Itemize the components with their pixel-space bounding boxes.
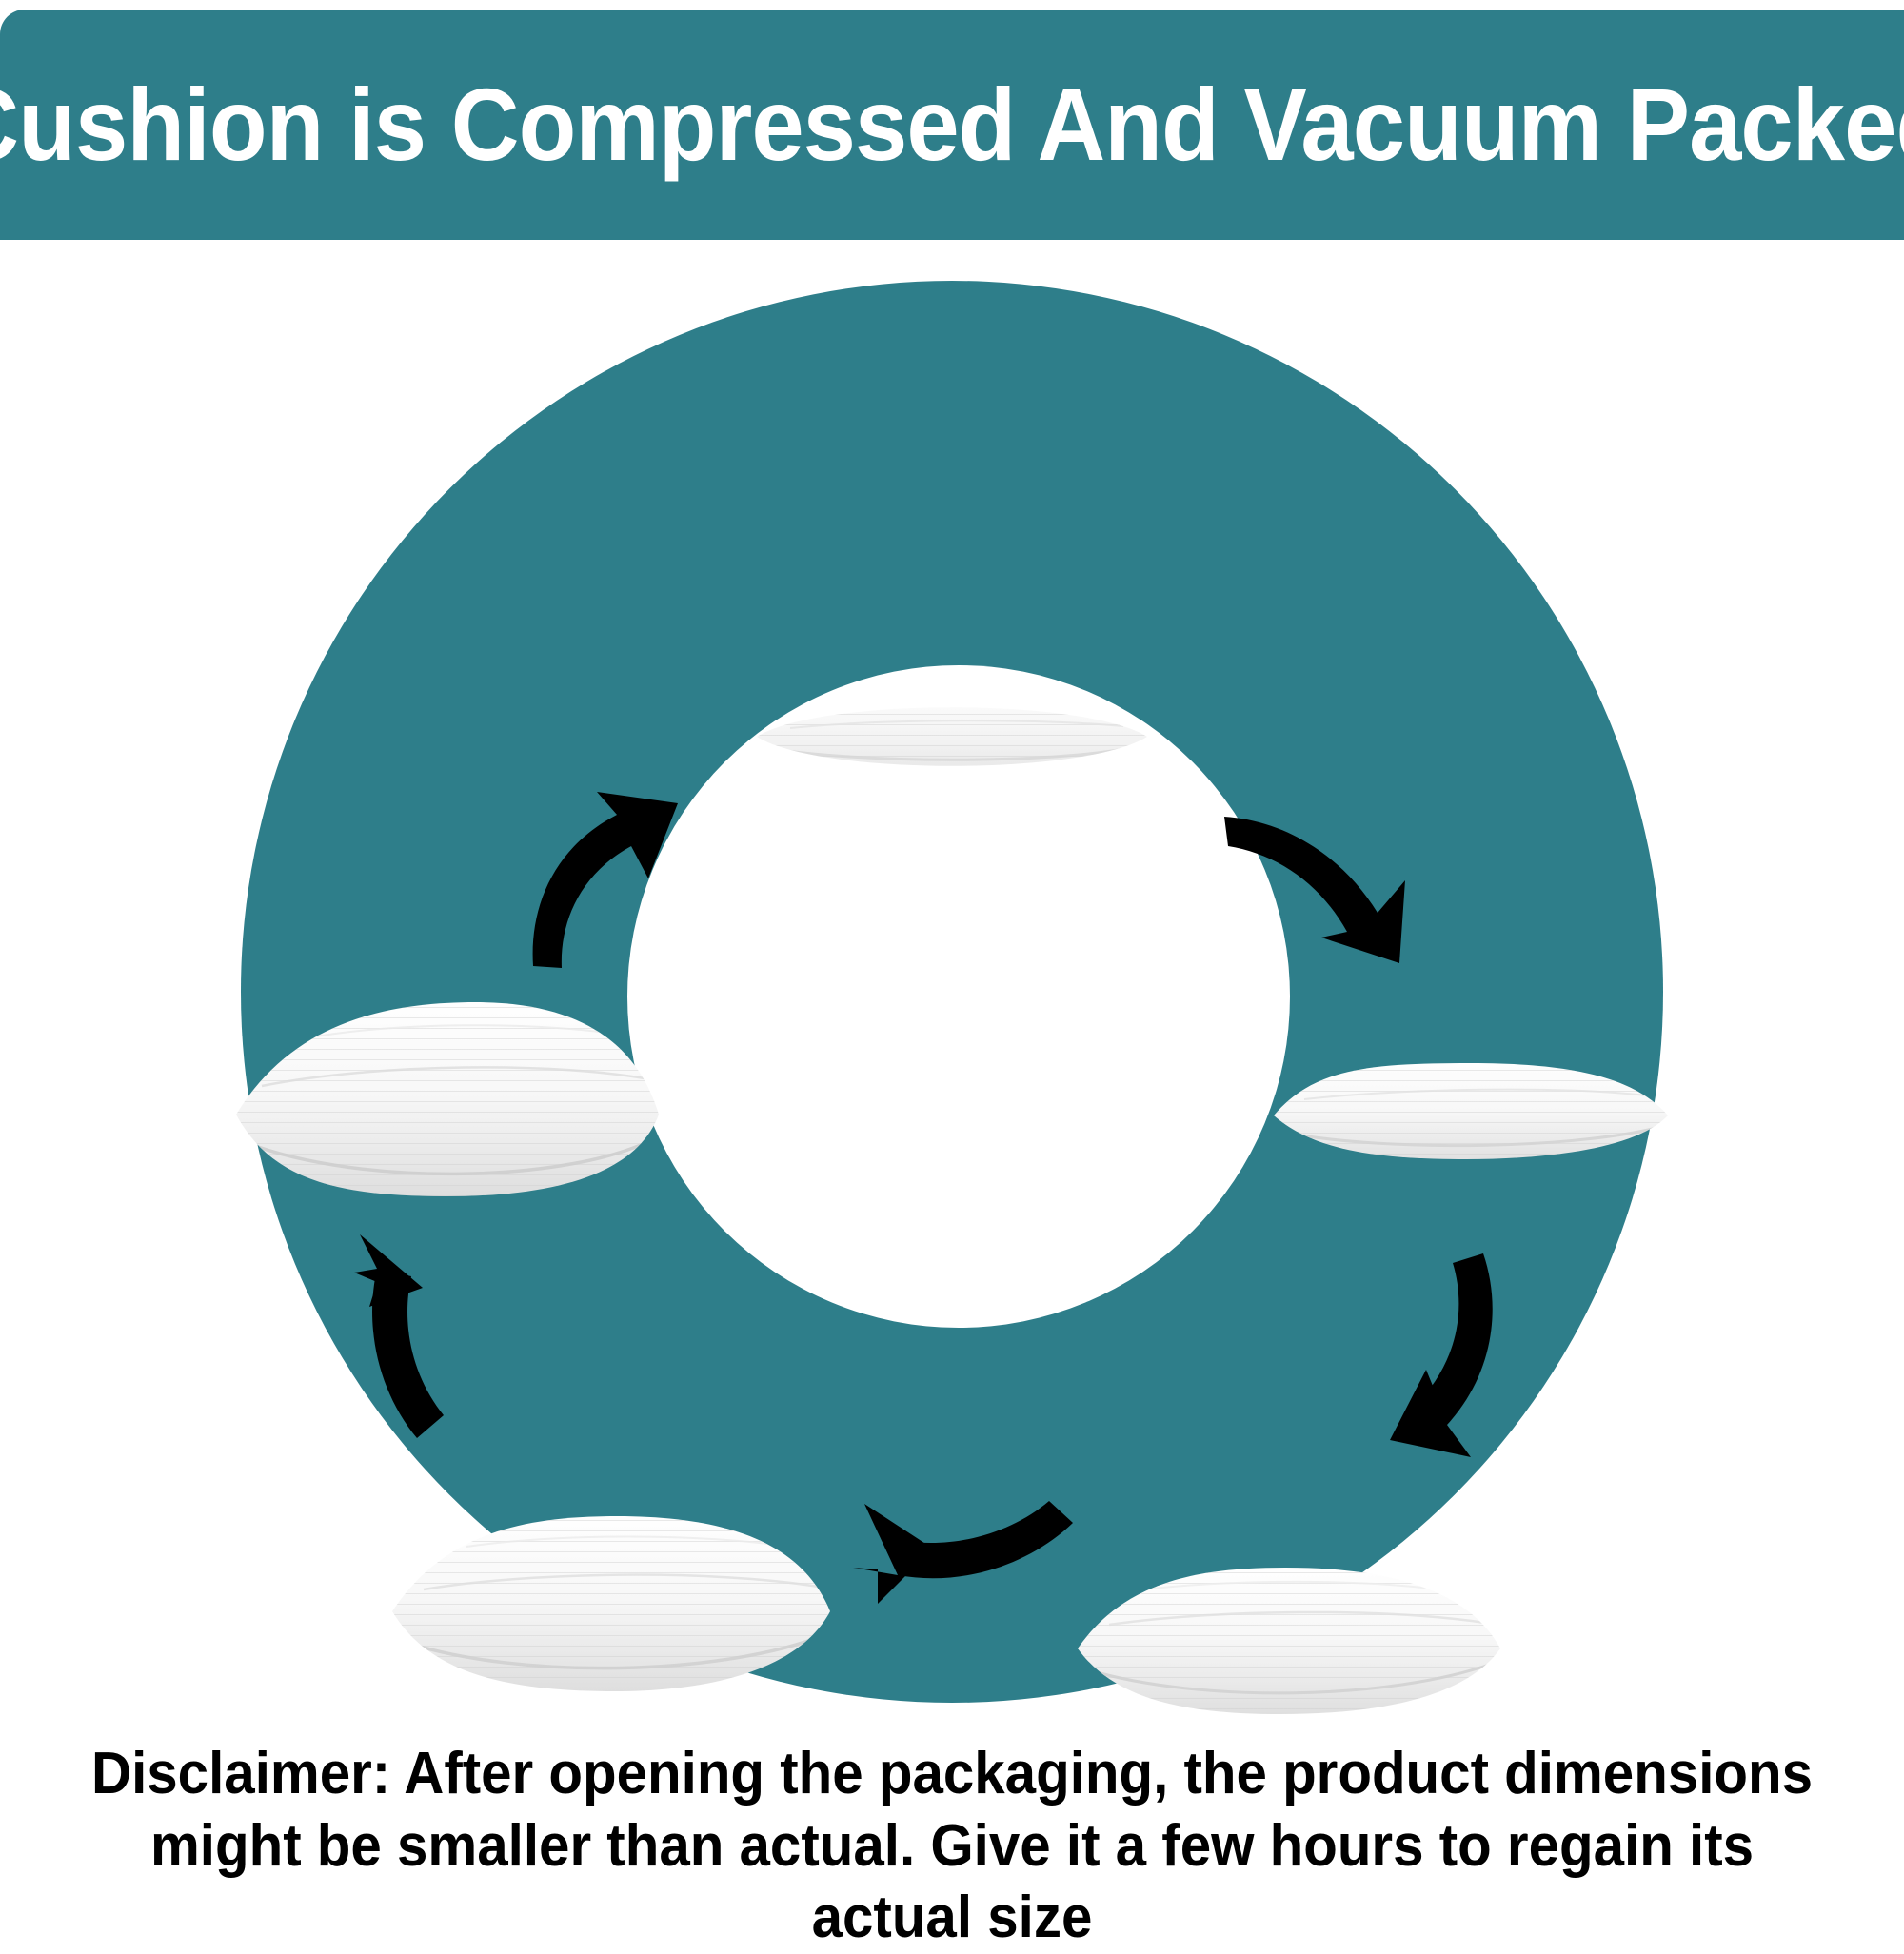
header-banner: Cushion is Compressed And Vacuum Packed: [0, 10, 1904, 240]
disclaimer-label: Disclaimer: [91, 1741, 372, 1806]
teal-donut-ring: [0, 243, 1904, 1727]
disclaimer-body: : After opening the packaging, the produ…: [150, 1741, 1813, 1950]
page-title: Cushion is Compressed And Vacuum Packed: [0, 73, 1904, 176]
poster-canvas: Cushion is Compressed And Vacuum Packed: [0, 0, 1904, 1904]
disclaimer-text: Disclaimer: After opening the packaging,…: [57, 1738, 1847, 1954]
cushion-expansion-cycle-diagram: [0, 243, 1904, 1727]
